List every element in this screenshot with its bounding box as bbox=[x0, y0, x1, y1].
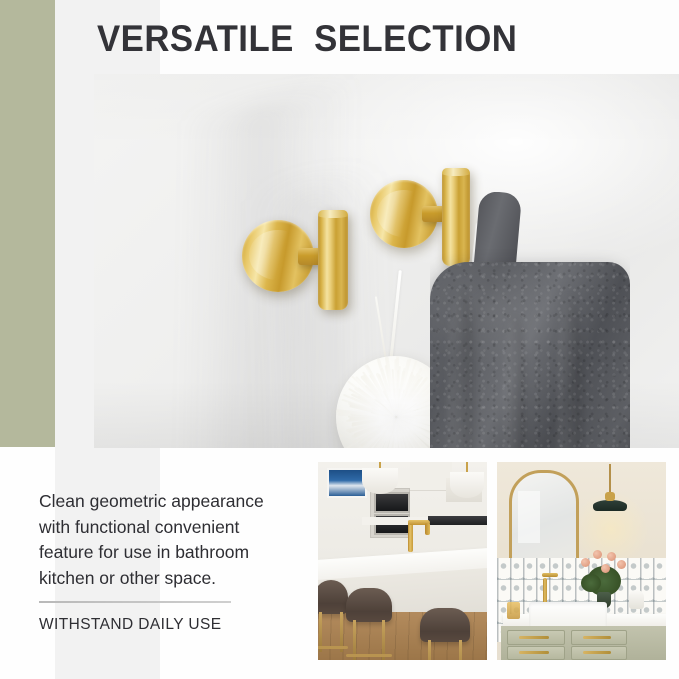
kitchen-bar-stool bbox=[318, 580, 348, 656]
kitchen-wall-art bbox=[327, 468, 367, 498]
rose-bloom bbox=[581, 558, 590, 567]
oven-door-upper bbox=[374, 492, 410, 513]
body-copy-line: Clean geometric appearance bbox=[39, 489, 304, 515]
vanity-cabinet bbox=[501, 626, 666, 660]
vessel-sink bbox=[529, 602, 607, 628]
kitchen-bar-stool bbox=[346, 588, 392, 660]
bathroom-pendant-lamp bbox=[593, 500, 627, 511]
drawer-pull bbox=[519, 651, 549, 654]
drawer-pull bbox=[583, 636, 611, 639]
divider-rule bbox=[39, 601, 231, 603]
stool-leg bbox=[459, 640, 462, 660]
rose-bloom bbox=[593, 550, 602, 559]
stool-leg bbox=[428, 640, 431, 660]
page-title: VERSATILE SELECTION bbox=[97, 16, 623, 62]
hero-vignette bbox=[94, 74, 679, 448]
sage-accent-bar bbox=[0, 0, 55, 447]
bathroom-thumbnail bbox=[497, 462, 666, 660]
kitchen-bar-stool bbox=[420, 608, 470, 660]
product-infographic: VERSATILE SELECTION bbox=[0, 0, 679, 679]
pendant-cap bbox=[605, 492, 615, 501]
body-copy-line: kitchen or other space. bbox=[39, 566, 304, 592]
hero-product-image bbox=[94, 74, 679, 448]
decor-bust bbox=[629, 590, 644, 609]
rose-bloom bbox=[607, 552, 616, 561]
foliage bbox=[581, 574, 601, 592]
kitchen-pendant-light bbox=[450, 472, 484, 498]
body-copy-line: feature for use in bathroom bbox=[39, 540, 304, 566]
pendant-rod bbox=[466, 462, 468, 472]
kitchen-gold-faucet bbox=[408, 520, 413, 552]
rose-bloom bbox=[617, 560, 626, 569]
stool-seat bbox=[346, 588, 392, 622]
amber-glass bbox=[507, 602, 520, 619]
stool-footring bbox=[346, 654, 392, 657]
body-copy-line: with functional convenient bbox=[39, 515, 304, 541]
stool-seat bbox=[318, 580, 348, 614]
stool-footring bbox=[318, 646, 348, 649]
bathroom-gold-faucet bbox=[543, 578, 547, 604]
stool-seat bbox=[420, 608, 470, 642]
pendant-rod bbox=[379, 462, 381, 468]
kitchen-thumbnail bbox=[318, 462, 487, 660]
drawer-pull bbox=[583, 651, 611, 654]
drawer-pull bbox=[519, 636, 549, 639]
kitchen-wall-oven bbox=[370, 488, 410, 538]
kicker-text: WITHSTAND DAILY USE bbox=[39, 616, 221, 634]
body-copy: Clean geometric appearance with function… bbox=[39, 489, 304, 591]
kitchen-pendant-light bbox=[362, 468, 398, 494]
kitchen-cooktop bbox=[428, 516, 487, 525]
rose-bloom bbox=[601, 564, 610, 573]
